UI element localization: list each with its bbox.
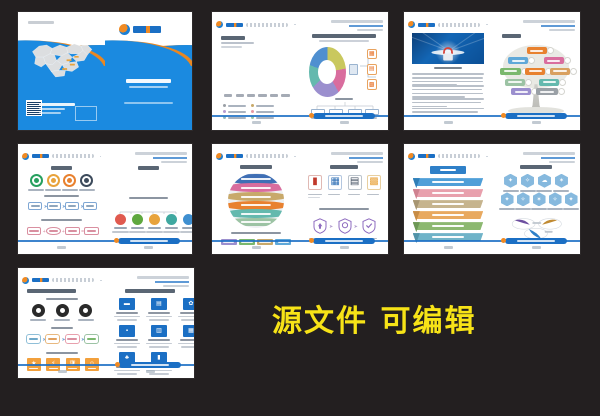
- bar-item: [280, 92, 291, 97]
- person-icon-3: [140, 174, 147, 192]
- page-footer: [404, 121, 492, 124]
- shield-step-2[interactable]: [338, 218, 352, 234]
- flow-chip-1[interactable]: [28, 202, 42, 210]
- header-heading: [523, 20, 575, 23]
- hexagon-item[interactable]: ✶: [531, 192, 547, 210]
- item-label: [28, 189, 44, 191]
- page-header: [408, 21, 487, 28]
- spread-sphere[interactable]: ▮ ▦ ▤ ▩ ➤ ➤: [212, 144, 388, 254]
- header-underline: [153, 157, 187, 159]
- certificate-types-page: ▮ ▦ ▤ ▩ ➤ ➤: [300, 144, 388, 254]
- logo-wordmark: [32, 278, 49, 282]
- spread-cover[interactable]: [18, 12, 192, 130]
- flow-chip-4[interactable]: [83, 202, 97, 210]
- header-heading: [331, 20, 383, 23]
- logo-wordmark: [418, 154, 435, 158]
- footer-tab[interactable]: [313, 113, 375, 119]
- tree-tag-8[interactable]: [539, 79, 559, 86]
- header-pill: [52, 278, 94, 282]
- china-map-illustration: [28, 30, 94, 84]
- legend-item: [251, 110, 274, 113]
- hexagon-item[interactable]: ✧: [547, 192, 563, 210]
- selection-criteria-row: [112, 214, 185, 233]
- page-footer: [212, 246, 300, 249]
- sphere-subtitle: [231, 232, 280, 234]
- item-label: [54, 319, 70, 321]
- service-flow-title: [51, 327, 72, 329]
- footer-bar: [18, 364, 106, 366]
- ring-icon: [63, 174, 76, 187]
- header-underline: [349, 25, 383, 27]
- footer-bar: [404, 240, 492, 242]
- back-cover-page: [18, 12, 105, 130]
- layered-sphere-infographic: [228, 173, 284, 228]
- tree-connectors: [311, 102, 378, 109]
- page-number: [144, 246, 153, 249]
- sphere-band-2[interactable]: [228, 183, 284, 192]
- header-underline: [349, 157, 383, 159]
- header-rule: [100, 280, 101, 281]
- company-name-title: [126, 79, 171, 83]
- person-icon-4: [153, 174, 160, 192]
- service-item[interactable]: ▦: [178, 325, 194, 348]
- certificate-label-4: [367, 194, 379, 196]
- header-pill: [52, 154, 94, 158]
- page-number: [252, 246, 261, 249]
- logo-circle-icon: [22, 153, 29, 160]
- logo-wordmark: [226, 154, 243, 158]
- bar-item: [223, 92, 234, 97]
- item-label: [78, 319, 94, 321]
- company-type-item[interactable]: [79, 174, 95, 191]
- tree-tag-num-10: [558, 88, 565, 95]
- front-cover-page: [105, 12, 192, 130]
- promo-caption: 源文件 可编辑: [272, 296, 476, 340]
- page-footer: [300, 246, 388, 249]
- header-pill: [438, 154, 480, 158]
- tree-tag-num-7: [525, 79, 532, 86]
- ring-icon: [80, 174, 93, 187]
- page-footer: [18, 370, 106, 373]
- page-header: [216, 153, 295, 160]
- cover-title-block: [105, 79, 192, 104]
- icon-box-3: ▩: [367, 79, 377, 90]
- bar-chart-page: [212, 12, 300, 130]
- post-flow-chip-1[interactable]: [27, 227, 42, 236]
- dot-connectors: [114, 205, 184, 215]
- material-item[interactable]: [30, 304, 46, 321]
- person-icon-5: [166, 174, 173, 192]
- section-title: [312, 34, 375, 38]
- page-header: [22, 153, 100, 160]
- shield-icon: [313, 218, 327, 234]
- page-footer: [212, 121, 300, 124]
- page-footer: [106, 370, 194, 373]
- chart-subtitle: [221, 42, 254, 44]
- bk-flow-chip-3[interactable]: [65, 334, 80, 344]
- service-item[interactable]: ✿: [178, 298, 194, 321]
- hexagon-item[interactable]: ✧: [520, 174, 536, 192]
- flow-chip-2[interactable]: [47, 202, 61, 210]
- company-type-item[interactable]: [45, 174, 61, 191]
- legend-item: [223, 110, 246, 113]
- header-heading: [135, 152, 187, 155]
- post-flow-chip-3[interactable]: [65, 227, 80, 236]
- hexagon-services-page: ✦ ✧ ☁ ✶ ✦ ✧ ✶ ✧ ✦: [492, 144, 580, 254]
- page-number: [340, 246, 349, 249]
- shield-step-3[interactable]: [362, 218, 376, 234]
- legend-item: [223, 104, 246, 107]
- hexagon-row-2: ✦ ✧ ✶ ✧ ✦: [499, 192, 573, 210]
- shield-icon: [338, 218, 352, 234]
- spread-tree[interactable]: [404, 12, 580, 130]
- tree-tag-9[interactable]: [511, 88, 531, 95]
- business-tree-infographic: [497, 44, 574, 114]
- registration-icon: ▬: [119, 298, 135, 310]
- icon-box-2: ▤: [367, 64, 377, 75]
- bar-label-5: [270, 94, 278, 97]
- header-heading: [523, 152, 575, 155]
- bar-label-4: [258, 94, 266, 97]
- page-header: [408, 153, 487, 160]
- address-box: [75, 106, 98, 120]
- logo-wordmark: [32, 154, 49, 158]
- header-pill: [246, 154, 288, 158]
- person-icon-2: [127, 174, 134, 192]
- header-rule: [294, 156, 295, 157]
- service-grid-title: [125, 289, 174, 293]
- footer-bar: [404, 115, 492, 117]
- tree-tag-num-6: [570, 68, 577, 75]
- item-label: [30, 319, 46, 321]
- spread-accounting[interactable]: ➤ ➤ ➤ ★ ⚡ 🛡 ☺ ▬ ▤ ✿: [18, 268, 194, 378]
- hexagon-item[interactable]: ✦: [499, 192, 515, 210]
- tree-tag-num-8: [559, 79, 566, 86]
- shield-icon: [362, 218, 376, 234]
- spread-stats[interactable]: ▦ ▤ ▩: [212, 12, 388, 130]
- accounting-icon: ▤: [151, 298, 167, 310]
- page-number: [58, 370, 67, 373]
- header-underline: [541, 25, 575, 27]
- page-footer: [492, 246, 580, 249]
- header-underline: [155, 281, 189, 283]
- page-header-right: [523, 152, 575, 163]
- header-subheading: [549, 161, 575, 163]
- item-label: [79, 189, 95, 191]
- ribbon-item-3[interactable]: [413, 200, 483, 208]
- logo-circle-icon: [216, 21, 223, 28]
- header-rule: [294, 24, 295, 25]
- ribbon-item-5[interactable]: [413, 222, 483, 230]
- service-icon-grid-page: ▬ ▤ ✿ ▪ ▥ ▦ ♣ ▮: [106, 268, 194, 378]
- sphere-band-5[interactable]: [228, 209, 284, 218]
- hexagon-item[interactable]: ✧: [515, 192, 531, 210]
- hexagon-icon: ✧: [521, 174, 534, 188]
- hexagon-icon: ✦: [501, 192, 514, 206]
- certificate-sublabel-1: [308, 197, 320, 199]
- hexagon-item[interactable]: ✦: [563, 192, 579, 210]
- criteria-item[interactable]: [163, 214, 180, 233]
- flow-chip-3[interactable]: [65, 202, 79, 210]
- bar-item: [257, 92, 268, 97]
- company-type-item[interactable]: [62, 174, 78, 191]
- agent-process-page: [105, 144, 192, 254]
- logo-wordmark: [418, 23, 435, 27]
- company-type-row: [28, 174, 94, 191]
- page-number: [444, 246, 453, 249]
- item-label: [45, 189, 61, 191]
- subsection-title-choose-service: [129, 197, 167, 199]
- bar-item: [245, 92, 256, 97]
- logo-wordmark: [133, 26, 161, 33]
- bookkeeping-title: [27, 289, 76, 293]
- donut-chart: [309, 47, 346, 97]
- service-item[interactable]: ▥: [146, 325, 172, 348]
- bar-label-3: [247, 94, 255, 97]
- hexagon-icon: ☁: [538, 174, 551, 188]
- header-subheading: [163, 285, 189, 287]
- subsection-title: [335, 98, 353, 100]
- page-header-right: [331, 20, 383, 31]
- bar-item: [234, 92, 245, 97]
- certificate-card-1[interactable]: ▮: [308, 175, 322, 190]
- arrow-icon: ➤: [329, 225, 333, 230]
- image-caption: [434, 67, 462, 69]
- logo-circle-icon: [119, 24, 130, 35]
- hexagon-item[interactable]: ✦: [503, 174, 519, 192]
- spread-registration[interactable]: ➤ ➤ ➤ + + =: [18, 144, 192, 254]
- company-name-subtitle: [129, 86, 167, 88]
- tree-tag-num-3: [564, 57, 571, 64]
- section-subtitle: [319, 40, 368, 42]
- footer-tab[interactable]: [505, 238, 567, 244]
- page-footer: [18, 246, 105, 249]
- hexagon-icon: ✧: [517, 192, 530, 206]
- legend-item: [251, 104, 274, 107]
- criteria-item[interactable]: [146, 214, 163, 233]
- spread-ribbons[interactable]: ✦ ✧ ☁ ✶ ✦ ✧ ✶ ✧ ✦: [404, 144, 580, 254]
- post-flow-result[interactable]: [84, 227, 99, 236]
- platform-advantage-title: [46, 352, 78, 354]
- company-type-item[interactable]: [28, 174, 44, 191]
- page-number: [252, 121, 261, 124]
- section-title-company-types: [51, 166, 72, 170]
- page-footer: [404, 246, 492, 249]
- hexagon-page-title: [520, 165, 552, 169]
- service-item[interactable]: ▤: [146, 298, 172, 321]
- tree-tag-6[interactable]: [550, 68, 570, 75]
- tree-tag-2[interactable]: [508, 57, 528, 64]
- logo-circle-icon: [408, 21, 415, 28]
- service-item[interactable]: ▪: [114, 325, 140, 348]
- tax-icon: ✿: [183, 298, 194, 310]
- logo-circle-icon: [216, 153, 223, 160]
- logo-wordmark: [226, 23, 243, 27]
- sphere-page-title: [240, 165, 272, 169]
- page-header-right: [137, 276, 189, 287]
- shield-step-1[interactable]: [313, 218, 327, 234]
- footer-tab[interactable]: [119, 362, 181, 368]
- header-pill: [438, 23, 480, 27]
- certificate-label-2: [328, 194, 340, 196]
- material-item[interactable]: [54, 304, 70, 321]
- bar-label-2: [236, 94, 244, 97]
- required-materials-title: [46, 298, 78, 300]
- page-number: [340, 121, 349, 124]
- canvas: ▦ ▤ ▩: [0, 0, 600, 416]
- page-header: [216, 21, 295, 28]
- header-rule: [486, 156, 487, 157]
- ring-icon: [47, 174, 60, 187]
- company-types-page: ➤ ➤ ➤ + + =: [18, 144, 105, 254]
- bar-label-6: [281, 94, 289, 97]
- bookkeeping-flow-page: ➤ ➤ ➤ ★ ⚡ 🛡 ☺: [18, 268, 106, 378]
- page-number: [532, 121, 541, 124]
- bar-label-1: [224, 94, 232, 97]
- tree-tag-7[interactable]: [505, 79, 525, 86]
- front-cover-blue-wave: [105, 40, 192, 71]
- lock-icon: [440, 46, 456, 62]
- page-header-right: [523, 20, 575, 31]
- page-number: [57, 246, 66, 249]
- cloud-security-hero-image: [412, 33, 484, 64]
- ribbon-item-1[interactable]: [413, 178, 483, 186]
- page-footer: [105, 246, 192, 249]
- header-subheading: [357, 161, 383, 163]
- hexagon-row-1: ✦ ✧ ☁ ✶: [503, 174, 570, 192]
- flow-connectors: [346, 50, 386, 85]
- import-export-icon: ▦: [183, 325, 194, 337]
- service-item[interactable]: ▬: [114, 298, 140, 321]
- hexagon-icon: ✧: [549, 192, 562, 206]
- header-rule: [486, 24, 487, 25]
- ribbon-item-2[interactable]: [413, 189, 483, 197]
- tree-tag-1[interactable]: [527, 47, 547, 54]
- certificate-card-4[interactable]: ▩: [367, 175, 381, 190]
- chart-title: [221, 36, 246, 40]
- page-number: [532, 246, 541, 249]
- item-label: [62, 189, 78, 191]
- business-change-sphere-page: [212, 144, 300, 254]
- back-cover-small-label: [28, 21, 54, 24]
- page-number: [444, 121, 453, 124]
- hexagon-icon: ✶: [533, 192, 546, 206]
- footer-bar: [212, 240, 300, 242]
- bk-flow-chip-1[interactable]: [26, 334, 41, 344]
- subsection-title-how-to-register: [44, 195, 79, 197]
- license-icon: [32, 304, 45, 317]
- header-subheading: [161, 161, 187, 163]
- donut-flow-page: ▦ ▤ ▩: [300, 12, 388, 130]
- business-tree-page: [492, 12, 580, 130]
- trademark-icon: ▪: [119, 325, 135, 337]
- logo-circle-icon: [408, 153, 415, 160]
- arrow-icon: ➤: [354, 225, 358, 230]
- sphere-band-3[interactable]: [228, 192, 284, 201]
- person-icon-6: [179, 174, 186, 192]
- subsection-title-after-registration: [41, 219, 83, 221]
- header-subheading: [357, 29, 383, 31]
- certificate-card-2[interactable]: ▦: [328, 175, 342, 190]
- company-logo[interactable]: [119, 24, 161, 35]
- hexagon-icon: ✶: [555, 174, 568, 188]
- tree-tag-10[interactable]: [536, 88, 558, 95]
- chart-subtitle-2: [221, 46, 242, 48]
- hexagon-item[interactable]: ✶: [553, 174, 569, 192]
- certificate-label-1: [308, 194, 322, 196]
- page-header-right: [331, 152, 383, 163]
- person-icon-1: [114, 174, 121, 192]
- icon-box-1: ▦: [367, 49, 377, 60]
- header-subheading: [549, 29, 575, 31]
- donut-center-label: [322, 65, 332, 79]
- certificate-page-title: [330, 165, 358, 169]
- header-heading: [137, 276, 189, 279]
- bank-icon: [56, 304, 69, 317]
- header-heading: [331, 152, 383, 155]
- certificate-subtitle: [319, 208, 368, 210]
- footer-tab[interactable]: [505, 113, 567, 119]
- header-pill: [246, 23, 288, 27]
- bar-chart: [223, 54, 292, 96]
- tree-tag-4[interactable]: [500, 68, 520, 75]
- material-item[interactable]: [78, 304, 94, 321]
- page-footer: [492, 121, 580, 124]
- page-header-right: [135, 152, 187, 163]
- service-ribbon-list-page: [404, 144, 492, 254]
- bar-item: [268, 92, 279, 97]
- hero-image-article-page: [404, 12, 492, 130]
- footer-bar: [212, 115, 300, 117]
- id-card-icon: [79, 304, 92, 317]
- ribbon-header-banner: [430, 166, 465, 174]
- tree-tag-5[interactable]: [525, 68, 545, 75]
- hexagon-item[interactable]: ☁: [536, 174, 552, 192]
- post-flow-chip-2[interactable]: [46, 227, 61, 236]
- hexagon-icon: ✦: [504, 174, 517, 188]
- page-footer: [300, 121, 388, 124]
- ribbon-item-4[interactable]: [413, 211, 483, 219]
- cover-tagline: [124, 102, 173, 104]
- criteria-item[interactable]: [180, 214, 192, 233]
- certificate-card-3[interactable]: ▤: [348, 175, 362, 190]
- hexagon-icon: ✦: [565, 192, 578, 206]
- license-icon: ▥: [151, 325, 167, 337]
- page-number: [146, 370, 155, 373]
- criteria-item[interactable]: [112, 214, 129, 233]
- tree-tag-3[interactable]: [544, 57, 564, 64]
- section-title-agent: [138, 166, 159, 170]
- page-header: [22, 277, 101, 284]
- footer-tab[interactable]: [118, 238, 180, 244]
- footer-bar: [18, 240, 105, 242]
- sphere-band-6[interactable]: [228, 218, 284, 227]
- certificate-label-3: [348, 194, 360, 196]
- logo-circle-icon: [22, 277, 29, 284]
- tree-page-title: [502, 34, 521, 38]
- bk-flow-chip-4[interactable]: [84, 334, 99, 344]
- ring-icon: [30, 174, 43, 187]
- criteria-item[interactable]: [129, 214, 146, 233]
- footer-tab[interactable]: [313, 238, 375, 244]
- required-materials-row: [30, 304, 93, 321]
- bk-flow-chip-2[interactable]: [45, 334, 60, 344]
- header-underline: [541, 157, 575, 159]
